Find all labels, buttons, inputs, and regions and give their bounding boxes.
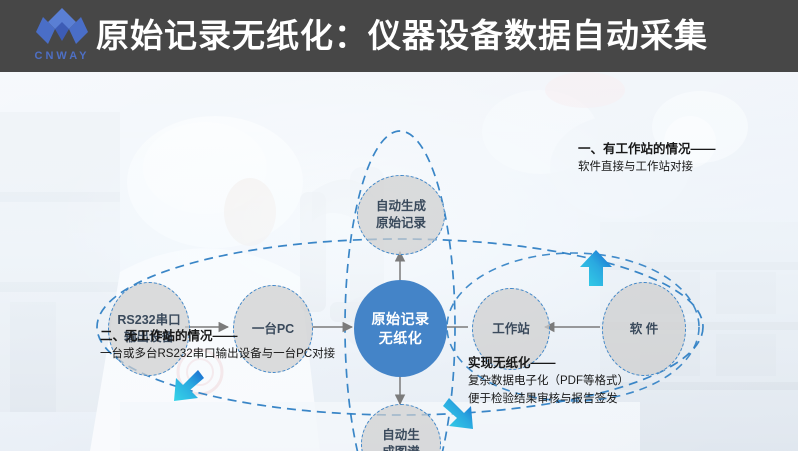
slide-root: CNWAY 原始记录无纸化：仪器设备数据自动采集: [0, 0, 798, 451]
node-software-line1: 软 件: [630, 321, 658, 338]
callout-paperless-result-line2: 便于检验结果审核与报告签发: [468, 391, 629, 409]
node-workstation-line1: 工作站: [492, 321, 530, 338]
cnway-diamond-logo-icon: [30, 6, 94, 50]
callout-with-workstation-line1: 软件直接与工作站对接: [578, 159, 716, 177]
node-auto-chart-line2: 成图谱: [382, 444, 420, 451]
brand-logo: CNWAY: [22, 6, 102, 68]
arrow-up-icon: [580, 250, 612, 286]
callout-paperless-result-title: 实现无纸化——: [468, 354, 629, 373]
arrow-down-left-icon: [174, 370, 204, 401]
callout-with-workstation: 一、有工作站的情况—— 软件直接与工作站对接: [578, 140, 716, 177]
callout-without-workstation: 二、无工作站的情况—— 一台或多台RS232串口输出设备与一台PC对接: [100, 327, 335, 364]
slide-header: CNWAY 原始记录无纸化：仪器设备数据自动采集: [0, 0, 798, 72]
page-title: 原始记录无纸化：仪器设备数据自动采集: [96, 11, 786, 61]
node-auto-record-line1: 自动生成: [376, 198, 426, 215]
node-auto-record[interactable]: 自动生成 原始记录: [357, 175, 445, 255]
callout-without-workstation-line1: 一台或多台RS232串口输出设备与一台PC对接: [100, 346, 335, 364]
node-core-line2: 无纸化: [379, 329, 423, 348]
node-core-paperless[interactable]: 原始记录 无纸化: [354, 280, 447, 377]
callout-paperless-result: 实现无纸化—— 复杂数据电子化（PDF等格式） 便于检验结果审核与报告签发: [468, 354, 629, 408]
node-auto-record-line2: 原始记录: [376, 215, 426, 232]
callout-paperless-result-line1: 复杂数据电子化（PDF等格式）: [468, 373, 629, 391]
diagram-stage: RS232串口 输出设备 一台PC 原始记录 无纸化 工作站 软 件 自动生成 …: [0, 72, 798, 451]
callout-with-workstation-title: 一、有工作站的情况——: [578, 140, 716, 159]
diagram-vector-layer: [0, 72, 798, 451]
node-auto-chart-line1: 自动生: [382, 427, 420, 444]
callout-without-workstation-title: 二、无工作站的情况——: [100, 327, 335, 346]
brand-logo-text: CNWAY: [22, 50, 102, 62]
node-core-line1: 原始记录: [372, 310, 430, 329]
